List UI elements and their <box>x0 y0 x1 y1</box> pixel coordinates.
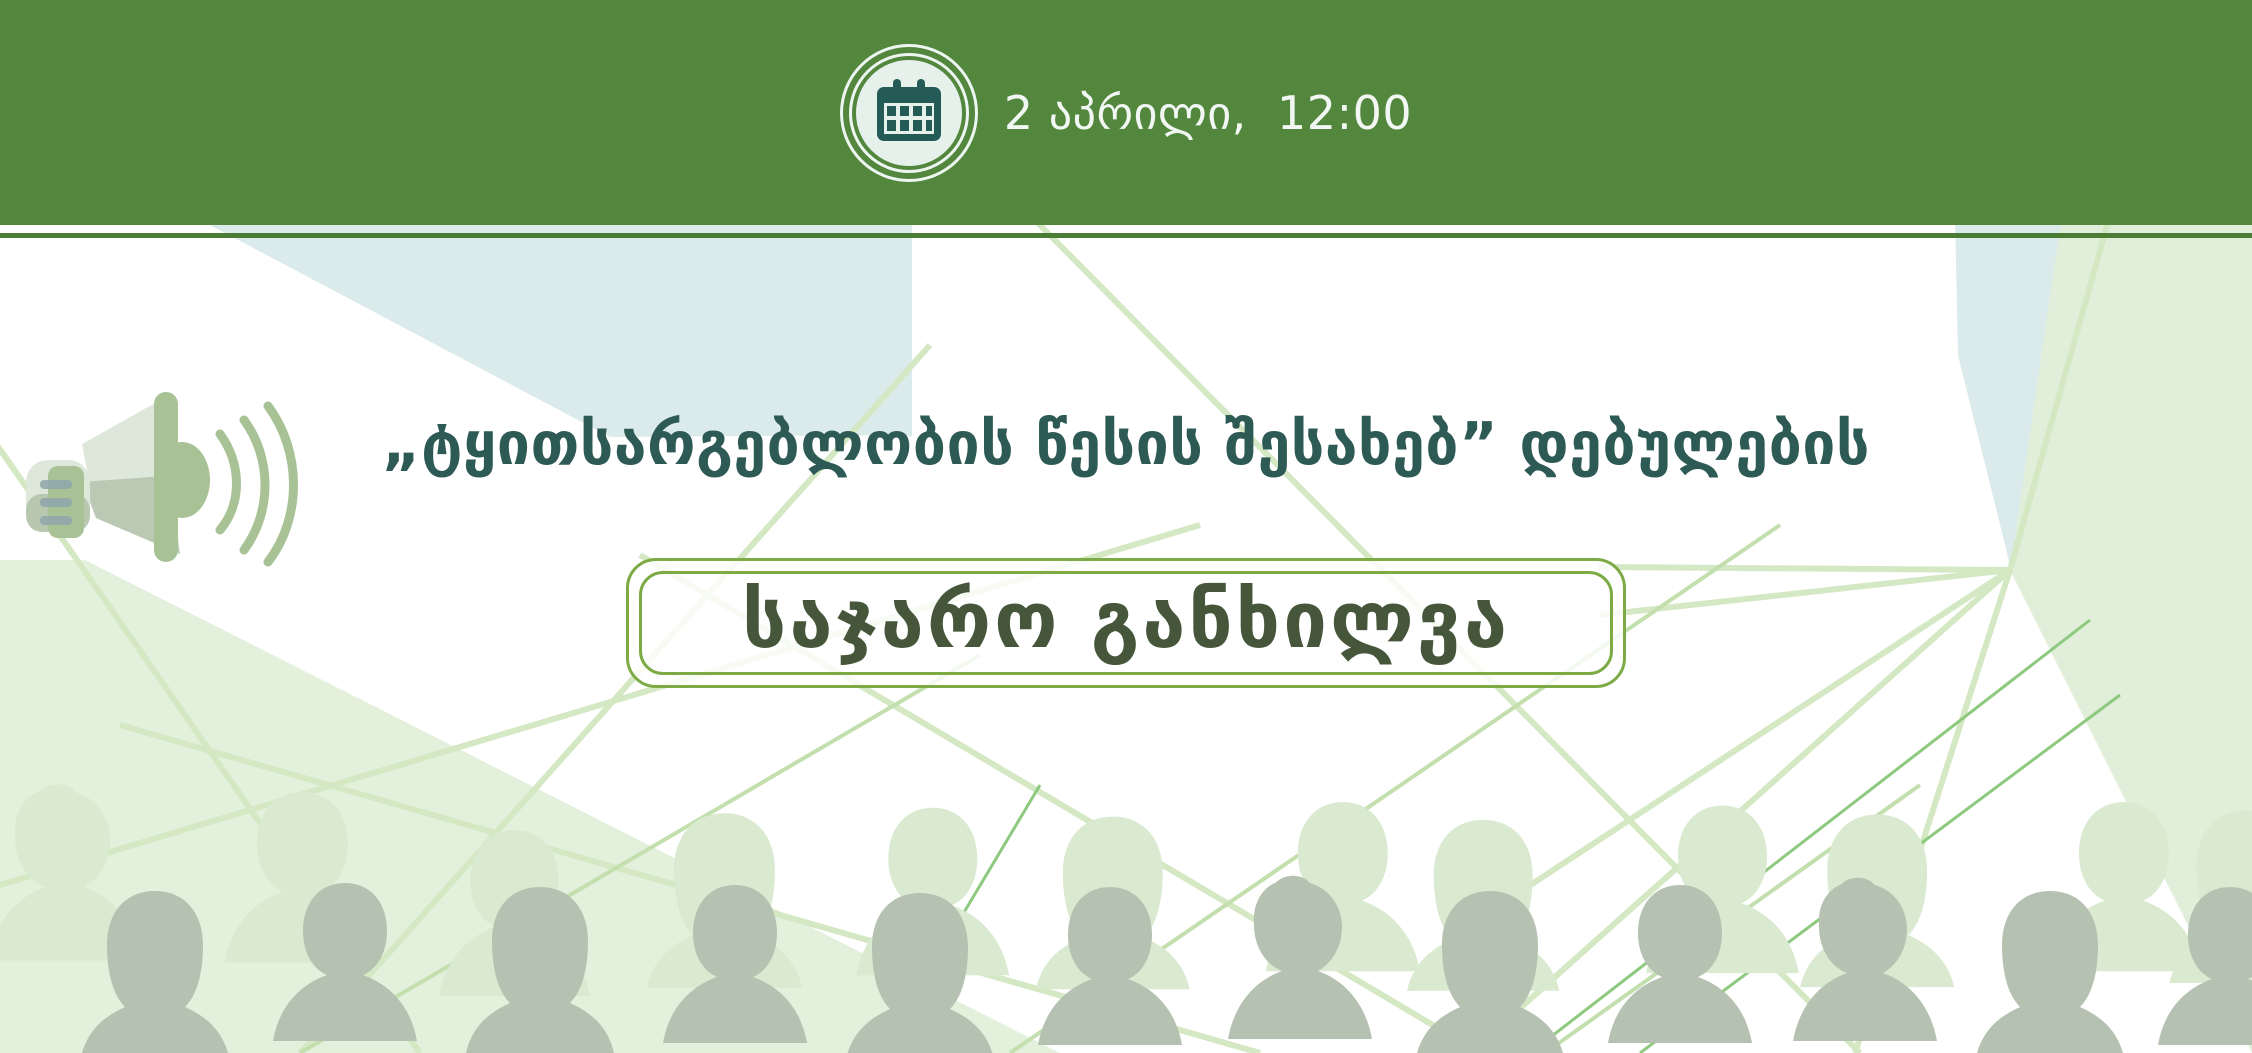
megaphone-icon <box>4 372 334 602</box>
event-date-time: 2 აპრილი, 12:00 <box>1004 90 1412 136</box>
header-rule <box>0 233 2252 238</box>
announcement-banner: 2 აპრილი, 12:00 „ტყითსარგებლობის წესის შ… <box>0 0 2252 1053</box>
crowd-silhouettes <box>0 723 2252 1053</box>
header-content: 2 აპრილი, 12:00 <box>0 0 2252 225</box>
calendar-icon <box>873 77 945 149</box>
calendar-medallion <box>840 44 978 182</box>
